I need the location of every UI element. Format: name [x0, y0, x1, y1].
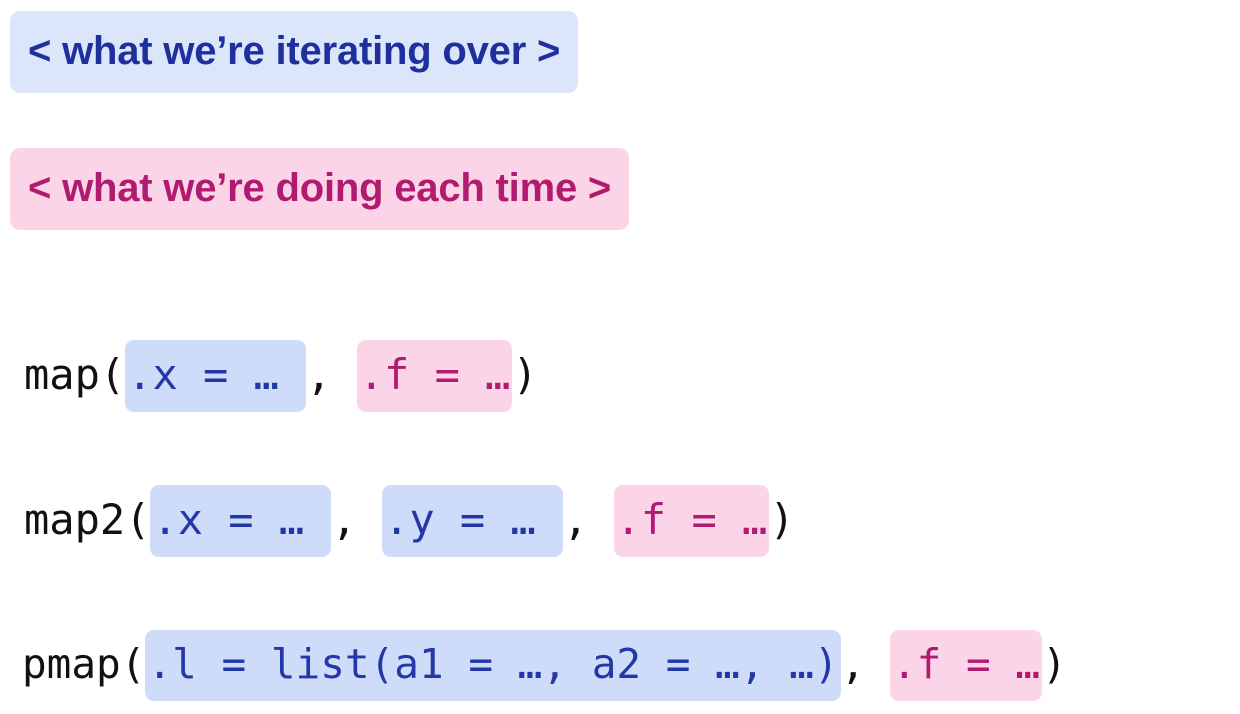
code-segment-pmap-2: , — [841, 644, 890, 685]
code-segment-map2-5: .f = … — [614, 485, 770, 557]
code-segment-map2-3: .y = … — [382, 485, 563, 557]
code-segment-pmap-4: ) — [1042, 644, 1067, 685]
legend-pill-doing-each-time: < what we’re doing each time > — [10, 148, 629, 230]
code-segment-pmap-1: .l = list(a1 = …, a2 = …, …) — [145, 630, 840, 701]
code-segment-map-0: map( — [24, 354, 125, 396]
code-line-map2: map2(.x = … , .y = … , .f = …) — [24, 485, 795, 557]
code-segment-map-1: .x = … — [125, 340, 306, 412]
code-segment-map2-4: , — [563, 499, 614, 541]
code-segment-map-3: .f = … — [357, 340, 513, 412]
code-segment-map2-6: ) — [769, 499, 794, 541]
code-line-pmap: pmap(.l = list(a1 = …, a2 = …, …), .f = … — [22, 630, 1067, 701]
code-segment-map2-1: .x = … — [150, 485, 331, 557]
code-line-map: map(.x = … , .f = …) — [24, 340, 538, 412]
code-segment-map2-0: map2( — [24, 499, 150, 541]
code-segment-pmap-0: pmap( — [22, 644, 145, 685]
legend-pill-iterating-over: < what we’re iterating over > — [10, 11, 578, 93]
code-segment-pmap-3: .f = … — [890, 630, 1042, 701]
code-segment-map-4: ) — [512, 354, 537, 396]
code-segment-map-2: , — [306, 354, 357, 396]
code-segment-map2-2: , — [331, 499, 382, 541]
